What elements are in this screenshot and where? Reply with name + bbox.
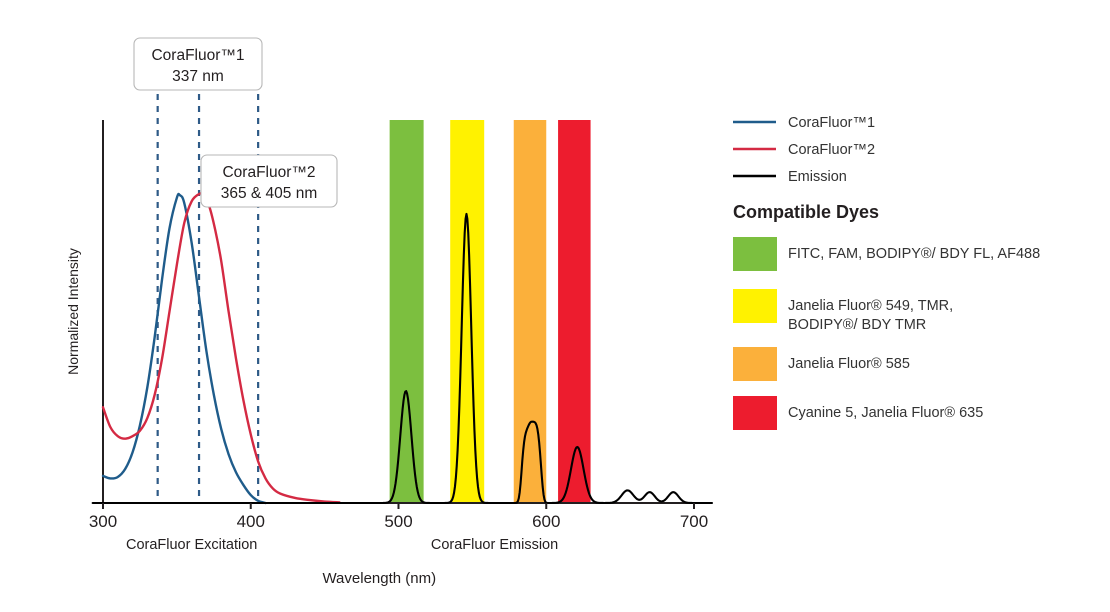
x-tick-label-300: 300 <box>89 512 117 531</box>
dye-label-1-line1: BODIPY®/ BDY TMR <box>788 317 926 333</box>
y-axis-title: Normalized Intensity <box>65 248 81 375</box>
x-tick-label-600: 600 <box>532 512 560 531</box>
spectra-figure: Normalized Intensity 300400500600700Cora… <box>0 0 1110 612</box>
cora2-callout-line1: CoraFluor™2 <box>222 164 315 181</box>
green-band <box>390 120 424 503</box>
legend-label-2: Emission <box>788 169 847 185</box>
dye-swatch-3 <box>733 396 777 430</box>
legend-label-0: CoraFluor™1 <box>788 115 875 131</box>
section-label-emission: CoraFluor Emission <box>431 537 558 553</box>
cora2-callout-line2: 365 & 405 nm <box>221 185 318 202</box>
red-band <box>558 120 591 503</box>
dye-swatch-2 <box>733 347 777 381</box>
dye-label-1-line0: Janelia Fluor® 549, TMR, <box>788 298 953 314</box>
yellow-band <box>450 120 484 503</box>
cora1-callout-line2: 337 nm <box>172 68 224 85</box>
x-axis-title: Wavelength (nm) <box>322 570 436 587</box>
x-tick-label-700: 700 <box>680 512 708 531</box>
x-tick-label-400: 400 <box>237 512 265 531</box>
dye-label-3: Cyanine 5, Janelia Fluor® 635 <box>788 405 983 421</box>
compatible-dyes-heading: Compatible Dyes <box>733 202 879 222</box>
dye-label-2: Janelia Fluor® 585 <box>788 356 910 372</box>
cora2-callout: CoraFluor™2365 & 405 nm <box>201 155 337 207</box>
dye-label-0: FITC, FAM, BODIPY®/ BDY FL, AF488 <box>788 246 1040 262</box>
dye-swatch-0 <box>733 237 777 271</box>
section-label-excitation: CoraFluor Excitation <box>126 537 257 553</box>
x-tick-label-500: 500 <box>384 512 412 531</box>
cora1-callout-line1: CoraFluor™1 <box>151 47 244 64</box>
dye-swatch-1 <box>733 289 777 323</box>
orange-band <box>514 120 547 503</box>
cora1-callout: CoraFluor™1337 nm <box>134 38 262 90</box>
legend-label-1: CoraFluor™2 <box>788 142 875 158</box>
